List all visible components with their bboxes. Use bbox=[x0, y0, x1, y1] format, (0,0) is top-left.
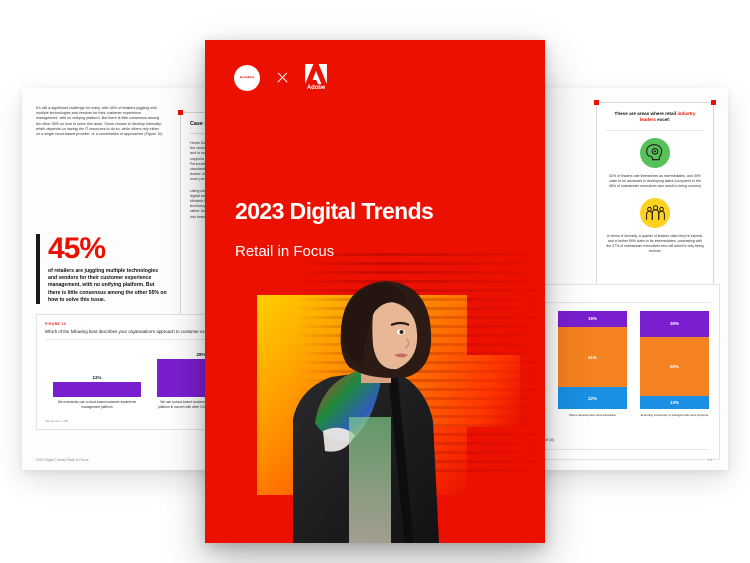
bar bbox=[53, 382, 141, 397]
report-cover: Econsultancy Adobe 2023 Digital Trends R… bbox=[205, 40, 545, 543]
cover-hero-art bbox=[205, 243, 545, 543]
group-of-people-icon bbox=[640, 198, 670, 228]
heading-text-after: excel: bbox=[656, 117, 670, 122]
cover-title: 2023 Digital Trends bbox=[235, 198, 433, 225]
x-separator-icon bbox=[276, 71, 289, 84]
leaders-callout-divider bbox=[606, 130, 704, 131]
econsultancy-wordmark: Econsultancy bbox=[240, 76, 254, 79]
stack-segment-advanced: 26% bbox=[640, 311, 709, 337]
pull-quote-stat: 45% bbox=[48, 234, 168, 264]
stack-segment-intermediate: 60% bbox=[640, 337, 709, 396]
stack-segment-advanced: 16% bbox=[558, 311, 627, 327]
bar-value: 11% bbox=[93, 375, 102, 380]
figure-10-sample-note: Sample size = 255 bbox=[45, 419, 68, 423]
stack-segment-intermediate: 61% bbox=[558, 327, 627, 387]
stacked-bar-group: 26% 60% 13% bbox=[640, 311, 709, 409]
leaders-callout-item-2-text: In terms of diversity, a quarter of lead… bbox=[606, 234, 704, 254]
stacked-bar-label: Ensuring a diversity of backgrounds and … bbox=[640, 413, 709, 426]
bar-group: 11% We exclusively use a cloud-based cus… bbox=[53, 375, 141, 409]
stacked-bar-label: Talent development and education bbox=[558, 413, 627, 426]
leaders-callout-item-1-text: 52% of leaders rate themselves as interm… bbox=[606, 174, 704, 189]
corner-marker-left-icon bbox=[594, 100, 599, 105]
cover-logo-lockup: Econsultancy Adobe bbox=[234, 64, 327, 91]
right-page-number: 14 bbox=[708, 457, 712, 462]
leaders-callout-box: These are areas where retail industry le… bbox=[596, 102, 714, 288]
corner-marker-left-icon bbox=[178, 110, 183, 115]
stack-segment-novice: 22% bbox=[558, 387, 627, 409]
cover-portrait-figure bbox=[257, 271, 477, 543]
heading-text-before: These are areas where retail bbox=[615, 111, 678, 116]
head-with-gear-icon bbox=[640, 138, 670, 168]
corner-marker-right-icon bbox=[711, 100, 716, 105]
left-page-footer: 2023 Digital Trends Retail in Focus bbox=[36, 458, 89, 462]
stack-segment-novice: 13% bbox=[640, 396, 709, 409]
stacked-bar-group: 16% 61% 22% bbox=[558, 311, 627, 409]
adobe-logo-icon: Adobe bbox=[305, 64, 327, 91]
left-page-paragraph-1-block: It's still a significant challenge for m… bbox=[36, 106, 164, 137]
adobe-wordmark: Adobe bbox=[305, 85, 327, 91]
econsultancy-logo-icon: Econsultancy bbox=[234, 65, 260, 91]
left-page-paragraph-1: It's still a significant challenge for m… bbox=[36, 106, 164, 137]
leaders-callout-heading: These are areas where retail industry le… bbox=[606, 111, 704, 124]
pull-quote-text: of retailers are juggling multiple techn… bbox=[48, 268, 168, 304]
bar-label: We exclusively use a cloud-based custome… bbox=[53, 400, 141, 409]
screenshot-stage: It's still a significant challenge for m… bbox=[0, 0, 750, 563]
pull-quote: 45% of retailers are juggling multiple t… bbox=[36, 234, 168, 304]
